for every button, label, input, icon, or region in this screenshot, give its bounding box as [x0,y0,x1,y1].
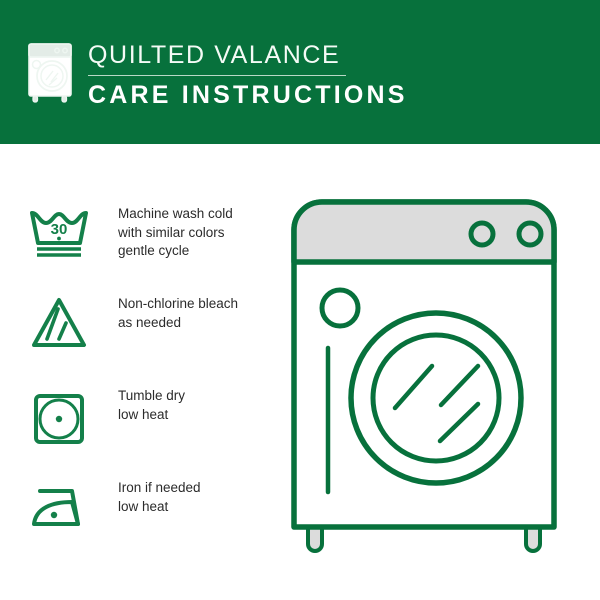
non-chlorine-bleach-triangle-icon [28,293,90,355]
care-line: Tumble dry [118,387,185,406]
title-divider [88,75,346,76]
care-line: low heat [118,406,185,425]
header-banner: QUILTED VALANCE CARE INSTRUCTIONS [0,0,600,144]
care-line: Machine wash cold [118,205,233,224]
care-row-machine-wash: 30 Machine wash cold with similar colors… [28,203,278,265]
care-text-iron: Iron if needed low heat [118,477,201,516]
iron-low-heat-icon [28,477,90,539]
header-text-block: QUILTED VALANCE CARE INSTRUCTIONS [88,40,518,110]
wash-temperature-label: 30 [51,221,68,238]
washing-machine-icon [24,41,76,103]
care-line: gentle cycle [118,242,233,261]
care-row-iron: Iron if needed low heat [28,477,278,539]
care-text-tumble-dry: Tumble dry low heat [118,385,185,424]
wash-tub-30-gentle-icon: 30 [28,203,90,265]
machine-control-panel [294,202,554,262]
page-title: QUILTED VALANCE [88,40,518,70]
front-load-washing-machine-illustration [288,196,573,561]
care-instructions-card: QUILTED VALANCE CARE INSTRUCTIONS 30 Mac… [0,0,600,600]
care-line: with similar colors [118,224,233,243]
care-line: Iron if needed [118,479,201,498]
care-line: as needed [118,314,238,333]
care-text-machine-wash: Machine wash cold with similar colors ge… [118,203,233,261]
care-row-bleach: Non-chlorine bleach as needed [28,293,278,355]
page-subtitle: CARE INSTRUCTIONS [88,80,518,110]
care-row-tumble-dry: Tumble dry low heat [28,385,278,447]
tumble-dry-low-heat-icon [28,385,90,447]
care-line: Non-chlorine bleach [118,295,238,314]
care-line: low heat [118,498,201,517]
care-text-bleach: Non-chlorine bleach as needed [118,293,238,332]
